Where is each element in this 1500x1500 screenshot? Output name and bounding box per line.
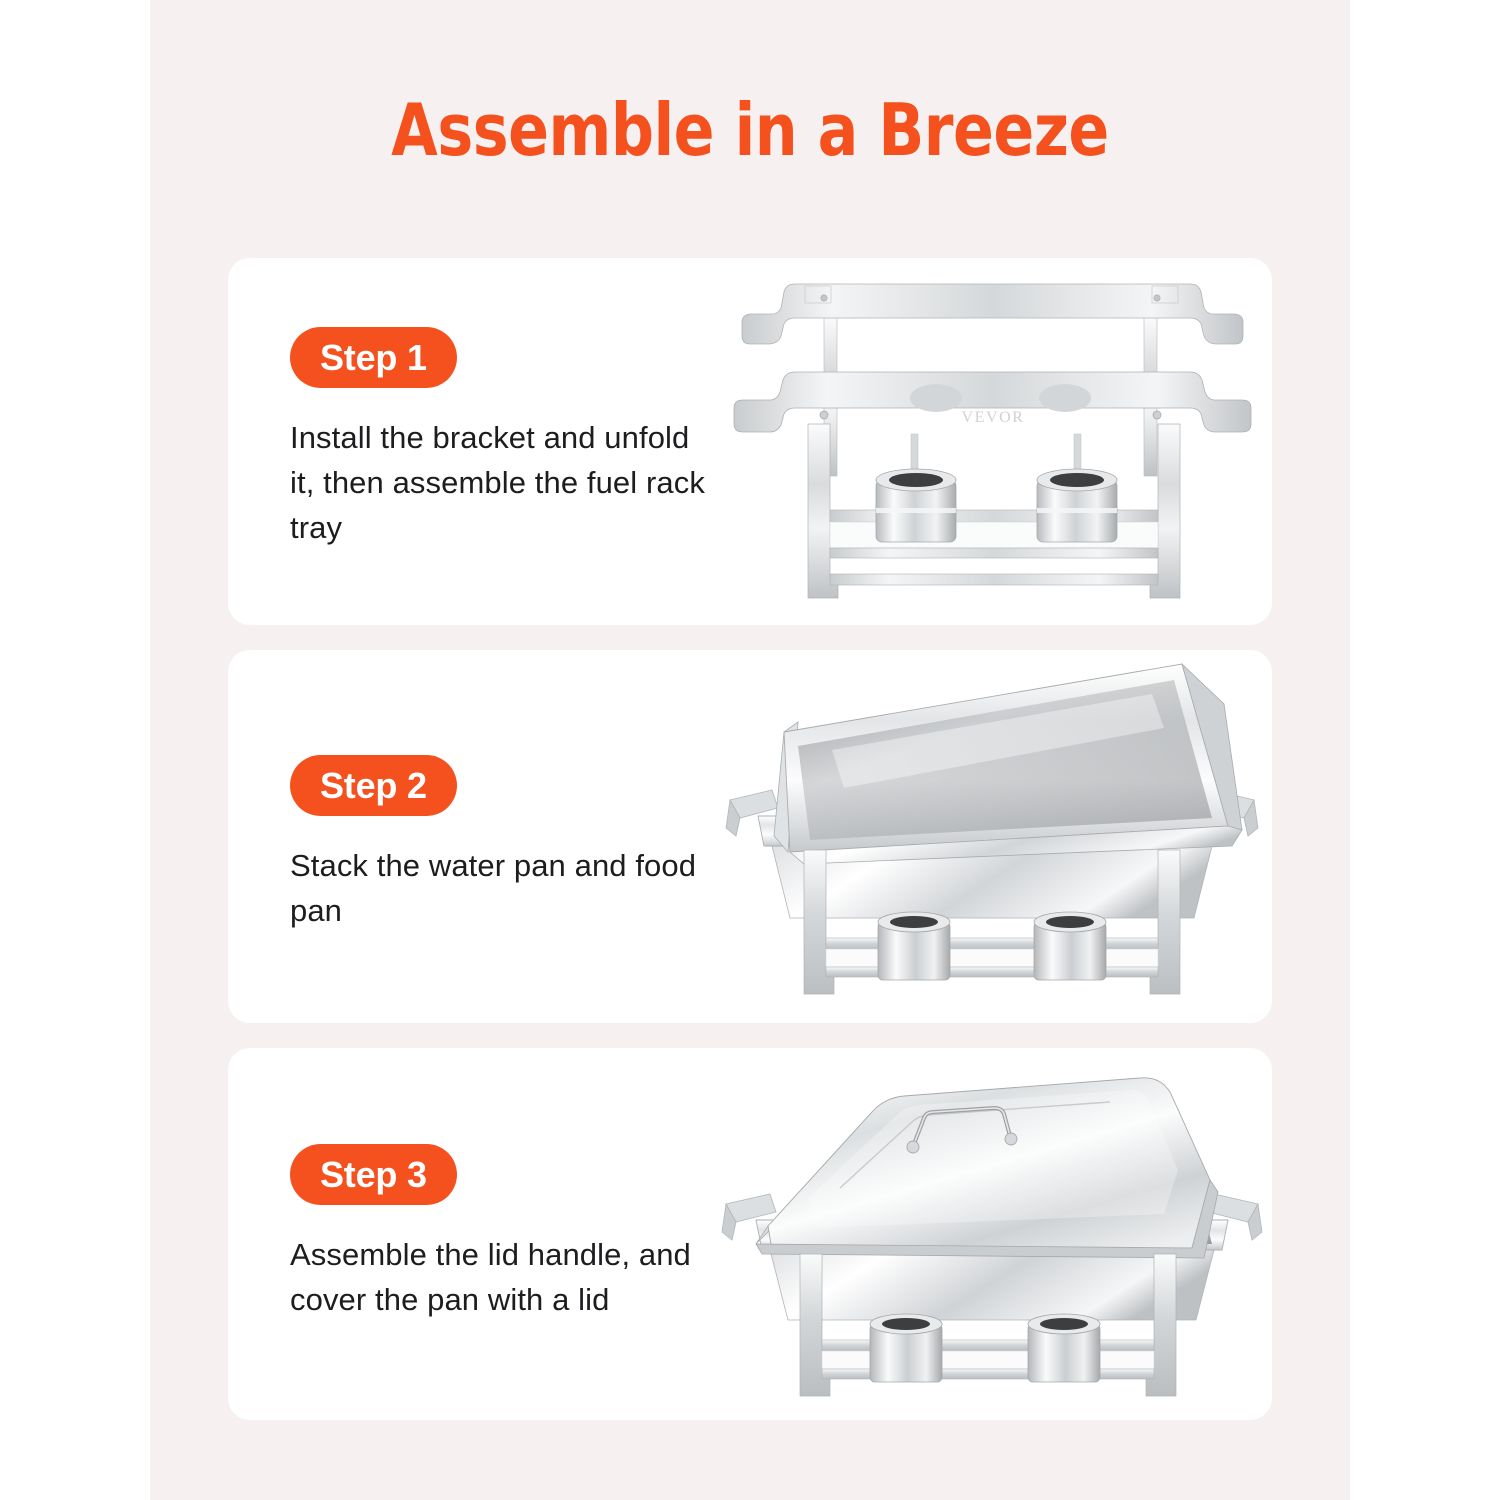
fuel-can-right bbox=[1037, 469, 1117, 542]
step-card-2: Step 2 Stack the water pan and food pan bbox=[228, 650, 1272, 1023]
step-2-product-image: VEVOR bbox=[712, 650, 1272, 1023]
step-3-text-block: Step 3 Assemble the lid handle, and cove… bbox=[290, 1144, 720, 1322]
product-infographic-page: Assemble in a Breeze Step 1 Install the … bbox=[0, 0, 1500, 1500]
fuel-can-left bbox=[878, 912, 950, 980]
step-1-text-block: Step 1 Install the bracket and unfold it… bbox=[290, 327, 720, 550]
step-card-3: Step 3 Assemble the lid handle, and cove… bbox=[228, 1048, 1272, 1420]
step-3-badge: Step 3 bbox=[290, 1144, 457, 1205]
step-2-badge: Step 2 bbox=[290, 755, 457, 816]
page-title: Assemble in a Breeze bbox=[192, 86, 1308, 174]
fuel-can-left bbox=[876, 469, 956, 542]
brand-logo-step-1: VEVOR bbox=[961, 409, 1024, 426]
food-pan-tilted bbox=[774, 664, 1242, 864]
step-card-1: Step 1 Install the bracket and unfold it… bbox=[228, 258, 1272, 625]
fuel-can-left bbox=[870, 1314, 942, 1382]
fuel-can-right bbox=[1034, 912, 1106, 980]
step-1-badge: Step 1 bbox=[290, 327, 457, 388]
step-3-product-image: VEVOR bbox=[712, 1048, 1272, 1420]
step-2-text-block: Step 2 Stack the water pan and food pan bbox=[290, 755, 720, 933]
lid-tilted bbox=[756, 1078, 1218, 1258]
fuel-can-right bbox=[1028, 1314, 1100, 1382]
step-3-description: Assemble the lid handle, and cover the p… bbox=[290, 1232, 720, 1322]
step-1-description: Install the bracket and unfold it, then … bbox=[290, 415, 720, 550]
step-1-product-image: VEVOR bbox=[712, 258, 1272, 625]
step-2-description: Stack the water pan and food pan bbox=[290, 843, 720, 933]
